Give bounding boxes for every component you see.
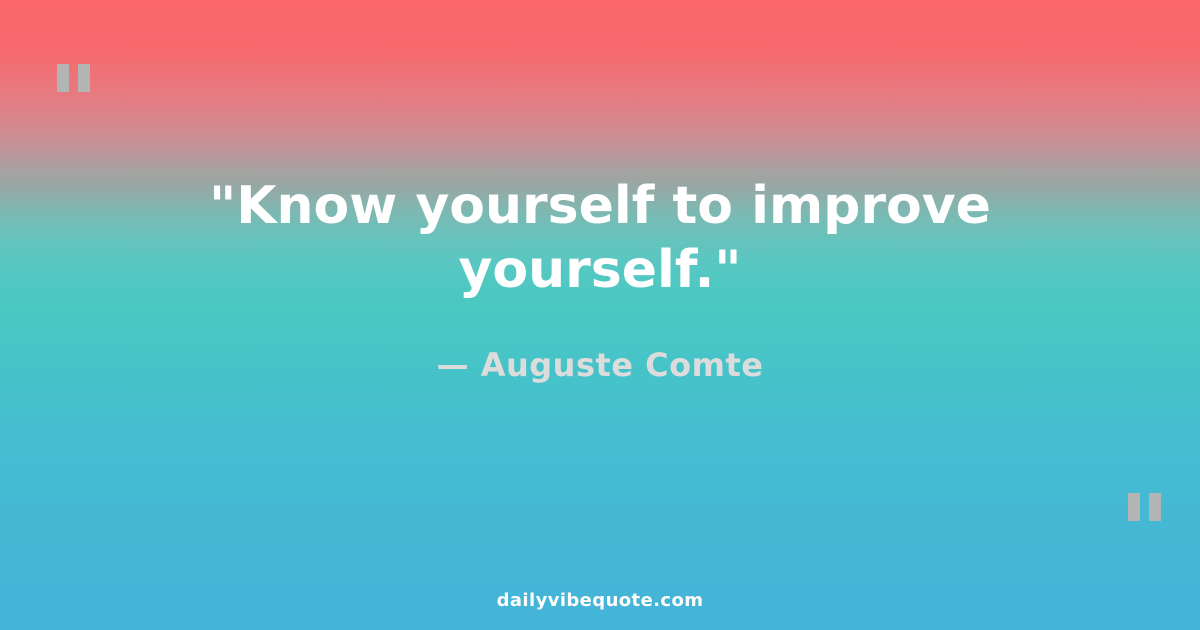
- quote-content: "Know yourself to improve yourself." — A…: [0, 0, 1200, 560]
- site-url-watermark: dailyvibequote.com: [0, 590, 1200, 611]
- footer: dailyvibequote.com: [0, 590, 1200, 611]
- quote-card: "Know yourself to improve yourself." — A…: [0, 0, 1200, 630]
- quote-text: "Know yourself to improve yourself.": [60, 175, 1140, 302]
- quote-attribution: — Auguste Comte: [437, 346, 764, 384]
